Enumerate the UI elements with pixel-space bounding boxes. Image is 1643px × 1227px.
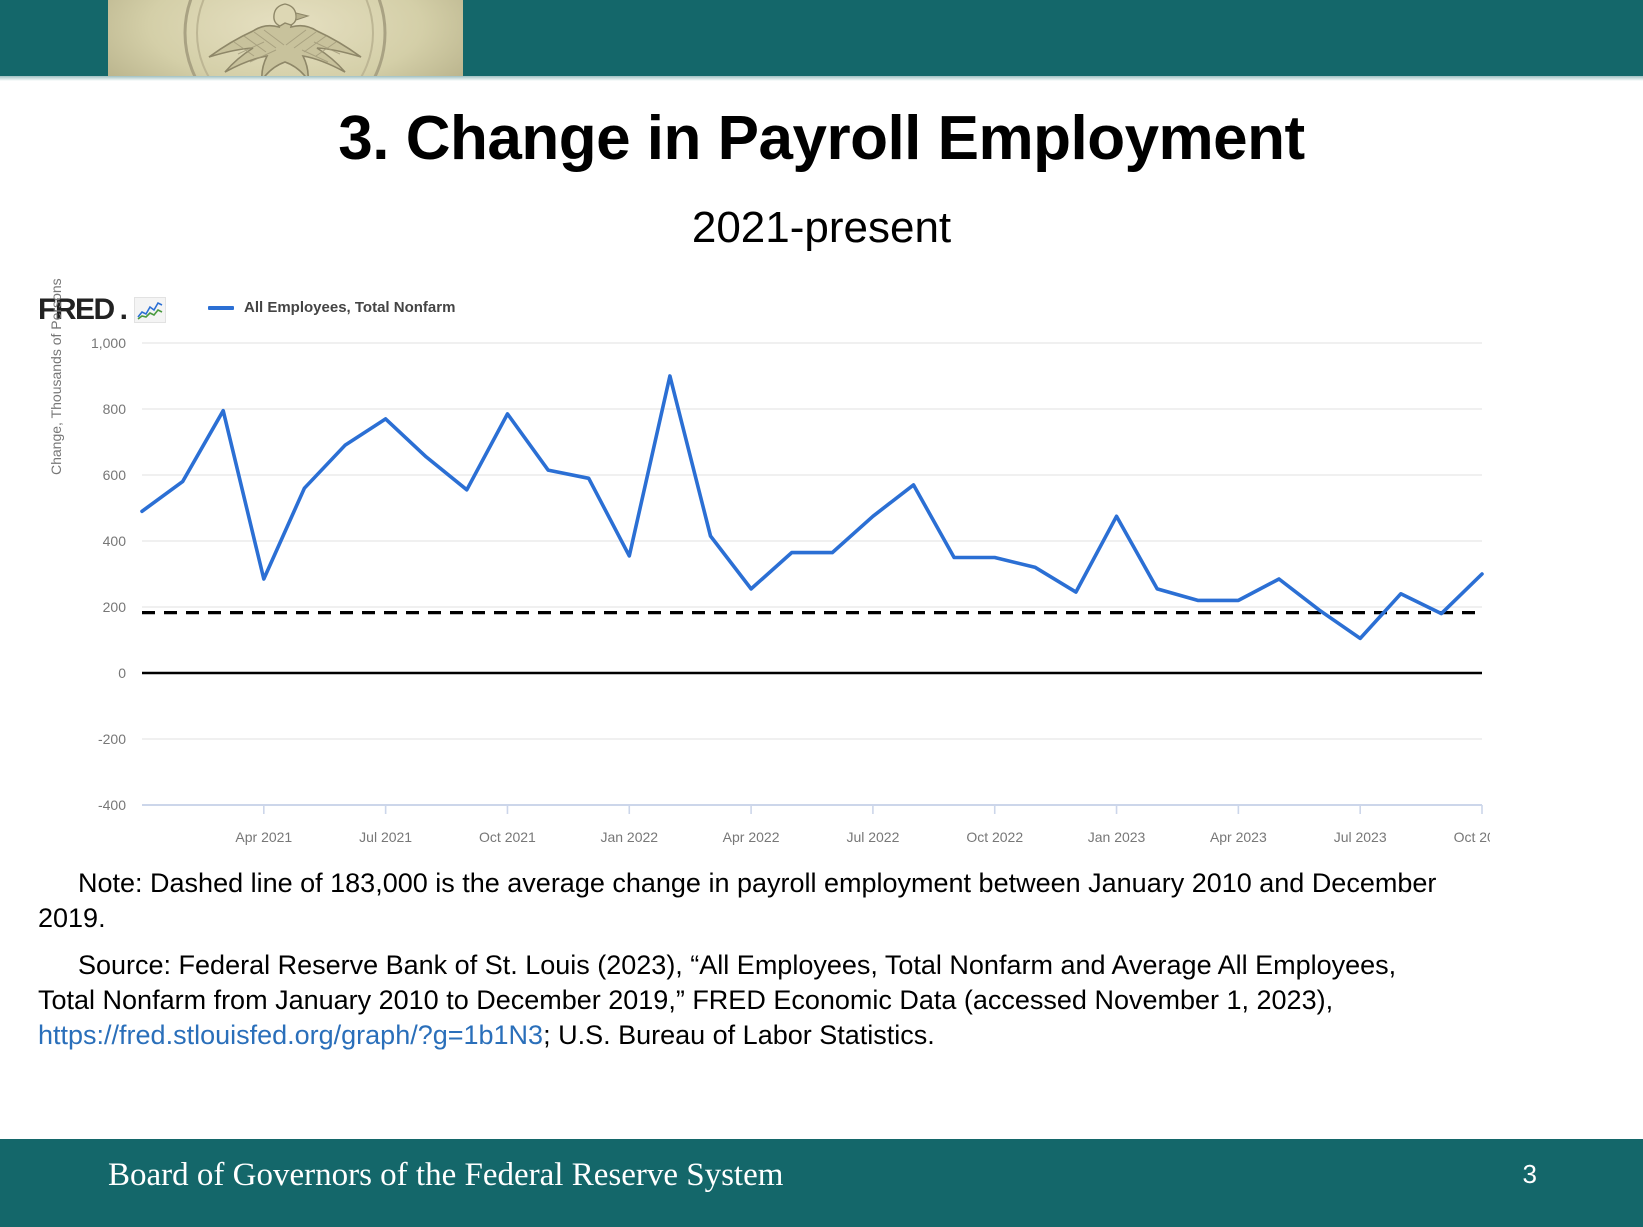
- x-tick-label: Jul 2022: [846, 829, 899, 845]
- source-paragraph: Source: Federal Reserve Bank of St. Loui…: [38, 948, 1458, 1053]
- y-tick-label: -400: [98, 797, 126, 813]
- eagle-seal-icon: NC: [108, 0, 463, 76]
- payroll-employment-series: [142, 376, 1482, 638]
- x-tick-label: Apr 2022: [723, 829, 780, 845]
- x-tick-label: Apr 2023: [1210, 829, 1267, 845]
- note-paragraph: Note: Dashed line of 183,000 is the aver…: [38, 866, 1458, 936]
- x-tick-label: Oct 2022: [966, 829, 1023, 845]
- x-tick-label: Oct 2023: [1454, 829, 1490, 845]
- fred-chart-panel: FRED . All Employees, Total Nonfarm Chan…: [30, 285, 1490, 865]
- x-tick-label: Oct 2021: [479, 829, 536, 845]
- federal-reserve-seal: NC: [108, 0, 463, 76]
- footer-band: Board of Governors of the Federal Reserv…: [0, 1139, 1643, 1227]
- y-tick-label: -200: [98, 731, 126, 747]
- x-tick-label: Apr 2021: [235, 829, 292, 845]
- x-tick-labels: Apr 2021Jul 2021Oct 2021Jan 2022Apr 2022…: [235, 829, 1490, 845]
- x-tick-label: Jan 2023: [1088, 829, 1146, 845]
- chart-plot: 1,0008006004002000-200-400 Apr 2021Jul 2…: [30, 285, 1490, 865]
- y-tick-label: 1,000: [91, 335, 126, 351]
- source-text-pre: Source: Federal Reserve Bank of St. Loui…: [38, 950, 1396, 1015]
- y-tick-label: 400: [103, 533, 127, 549]
- source-text-post: ; U.S. Bureau of Labor Statistics.: [543, 1020, 935, 1050]
- y-tick-label: 0: [118, 665, 126, 681]
- x-tick-label: Jul 2023: [1334, 829, 1387, 845]
- y-tick-labels: 1,0008006004002000-200-400: [91, 335, 126, 813]
- header-rule: [0, 76, 1643, 81]
- footer-organization: Board of Governors of the Federal Reserv…: [108, 1157, 783, 1194]
- page-title: 3. Change in Payroll Employment: [0, 106, 1643, 171]
- y-tick-label: 800: [103, 401, 127, 417]
- x-tick-label: Jul 2021: [359, 829, 412, 845]
- x-tick-label: Jan 2022: [600, 829, 658, 845]
- y-tick-label: 600: [103, 467, 127, 483]
- source-url-link[interactable]: https://fred.stlouisfed.org/graph/?g=1b1…: [38, 1020, 543, 1050]
- gridlines: [142, 343, 1482, 805]
- x-tick-marks: [264, 805, 1482, 814]
- page-subtitle: 2021-present: [0, 203, 1643, 253]
- page-number: 3: [1523, 1159, 1537, 1190]
- notes-block: Note: Dashed line of 183,000 is the aver…: [38, 866, 1458, 1065]
- y-tick-label: 200: [103, 599, 127, 615]
